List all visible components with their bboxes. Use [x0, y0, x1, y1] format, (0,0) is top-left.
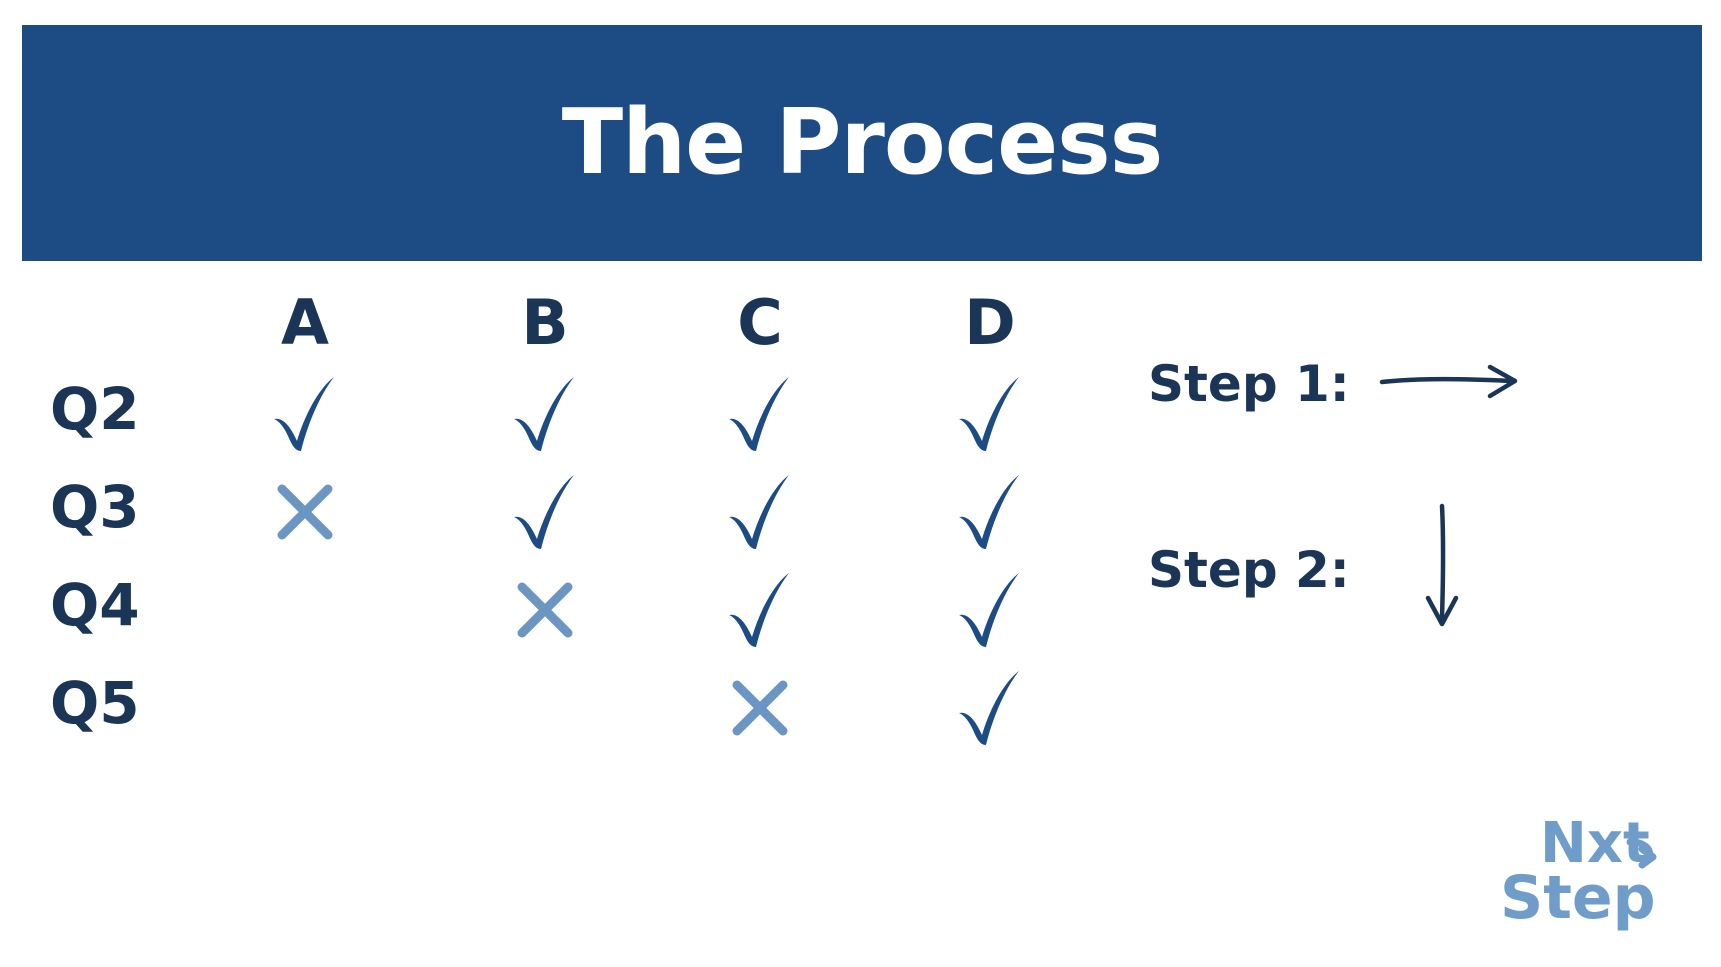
cell-q3-b: [485, 464, 605, 560]
slide-canvas: The Process A B C D Q2 Q3 Q4 Q5: [0, 0, 1721, 967]
logo-line-2: Step: [1500, 863, 1656, 933]
check-icon: [953, 373, 1027, 455]
check-icon: [953, 569, 1027, 651]
arrow-down-icon: [1412, 502, 1472, 637]
column-header-b: B: [485, 292, 605, 354]
cell-q3-c: [700, 464, 820, 560]
cell-q4-c: [700, 562, 820, 658]
cell-q2-c: [700, 366, 820, 462]
cell-q4-d: [930, 562, 1050, 658]
cell-q4-a: [245, 562, 365, 658]
column-header-d: D: [930, 292, 1050, 354]
cross-icon: [516, 581, 574, 639]
title-banner: The Process: [22, 25, 1702, 261]
check-icon: [723, 569, 797, 651]
check-icon: [953, 471, 1027, 553]
step-1-row: Step 1:: [1148, 356, 1528, 411]
cell-q2-d: [930, 366, 1050, 462]
cell-q5-c: [700, 660, 820, 756]
cell-q3-a: [245, 464, 365, 560]
column-header-c: C: [700, 292, 820, 354]
row-label-q3: Q3: [50, 478, 210, 536]
check-icon: [723, 471, 797, 553]
cell-q2-b: [485, 366, 605, 462]
page-title: The Process: [562, 98, 1163, 188]
cell-q5-b: [485, 660, 605, 756]
check-icon: [723, 373, 797, 455]
step-1-label: Step 1:: [1148, 359, 1350, 409]
process-matrix: A B C D Q2 Q3 Q4 Q5: [0, 270, 1100, 770]
steps-legend: Step 1: Step 2:: [1140, 340, 1560, 640]
row-label-q2: Q2: [50, 380, 210, 438]
step-2-row: Step 2:: [1148, 502, 1472, 637]
check-icon: [508, 373, 582, 455]
cross-icon: [731, 679, 789, 737]
cross-icon: [276, 483, 334, 541]
nxt-step-logo: Nxt Step: [1492, 808, 1672, 938]
row-label-q4: Q4: [50, 576, 210, 634]
cell-q5-a: [245, 660, 365, 756]
check-icon: [268, 373, 342, 455]
cell-q5-d: [930, 660, 1050, 756]
cell-q4-b: [485, 562, 605, 658]
check-icon: [953, 667, 1027, 749]
column-header-a: A: [245, 292, 365, 354]
cell-q2-a: [245, 366, 365, 462]
row-label-q5: Q5: [50, 674, 210, 732]
check-icon: [508, 471, 582, 553]
step-2-label: Step 2:: [1148, 545, 1350, 595]
cell-q3-d: [930, 464, 1050, 560]
arrow-right-icon: [1378, 356, 1528, 411]
